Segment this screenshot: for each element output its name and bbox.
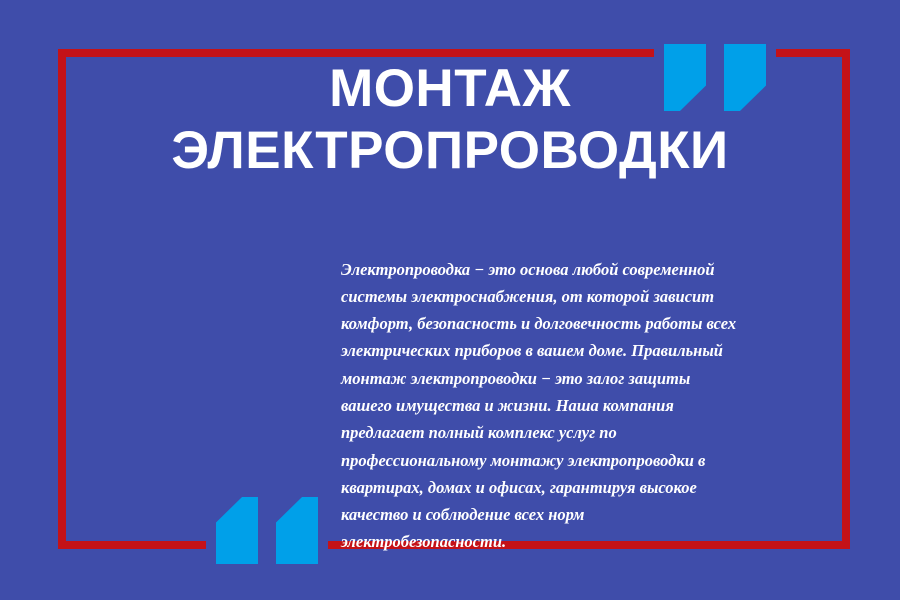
- quote-mark-group-top-right: [654, 36, 776, 111]
- quote-mark-icon: [664, 44, 706, 111]
- poster-title-line-2: ЭЛЕКТРОПРОВОДКИ: [0, 120, 900, 182]
- quote-mark-icon: [216, 497, 258, 564]
- quote-mark-icon: [724, 44, 766, 111]
- quote-mark-group-bottom-left: [206, 497, 328, 574]
- quote-mark-icon: [276, 497, 318, 564]
- poster-body-paragraph: Электропроводка − это основа любой совре…: [341, 256, 741, 556]
- poster-canvas: МОНТАЖ ЭЛЕКТРОПРОВОДКИ Электропроводка −…: [0, 0, 900, 600]
